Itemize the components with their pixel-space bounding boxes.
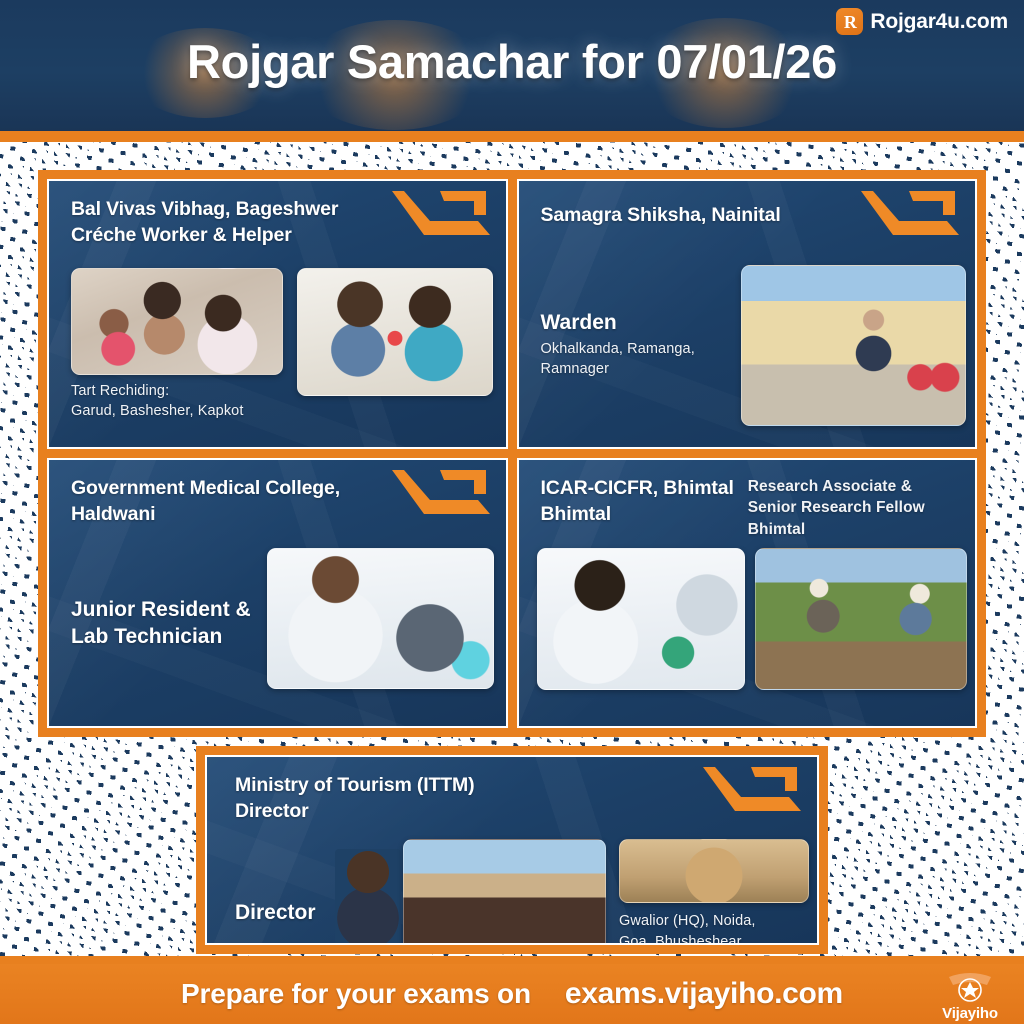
footer-accent-rule [0, 956, 1024, 964]
rojgar-logo-icon: R [836, 8, 863, 35]
card-role-line-2: Senior Research Fellow [748, 497, 957, 518]
footer-cta-banner[interactable]: Prepare for your exams on exams.vijayiho… [0, 964, 1024, 1024]
card-locations-line-1: Okhalkanda, Ramanga, [541, 339, 695, 359]
card-role-line-1: Junior Resident & [71, 596, 251, 623]
conference-hall-photo [403, 839, 606, 945]
card-title-line-2: Bhimtal [541, 502, 734, 528]
chevron-decor-icon [382, 464, 500, 538]
card-note-label: Tart Rechiding: [71, 381, 243, 401]
vijayiho-logo-text: Vijayiho [942, 1005, 998, 1022]
card-title-line-2: Director [235, 799, 674, 825]
palace-monument-photo [619, 839, 809, 903]
card-locations-line-1: Gwalior (HQ), Noida, [619, 911, 756, 932]
vijayiho-logo: Vijayiho [928, 966, 1012, 1022]
chevron-decor-icon [851, 185, 969, 259]
card-title: Samagra Shiksha, Nainital [541, 203, 862, 229]
card-role-line-2: Lab Technician [71, 623, 251, 650]
card-role-line-3: Bhimtal [748, 519, 957, 540]
two-children-playing-photo [297, 268, 493, 396]
card-note-value: Garud, Bashesher, Kapkot [71, 401, 243, 421]
job-cards-grid: Bal Vivas Vibhag, Bageshwer Créche Worke… [38, 170, 986, 737]
page-title: Rojgar Samachar for 07/01/26 [0, 34, 1024, 89]
card-title: Government Medical College, [71, 476, 392, 502]
card-locations: Gwalior (HQ), Noida, Goa, Bhusheshear, N… [619, 911, 756, 945]
lab-researcher-photo [537, 548, 745, 690]
footer-url[interactable]: exams.vijayiho.com [565, 977, 843, 1011]
card-locations-line-2: Goa, Bhusheshear, [619, 932, 756, 945]
job-card-government-medical-college-haldwani[interactable]: Government Medical College, Haldwani Jun… [47, 458, 508, 728]
farmers-in-field-photo [755, 548, 967, 690]
card-title: Ministry of Tourism (ITTM) [235, 773, 674, 799]
chevron-decor-icon [693, 761, 811, 835]
card-title: ICAR-CICFR, Bhimtal [541, 476, 734, 502]
footer-prompt: Prepare for your exams on [181, 978, 531, 1010]
vijayiho-emblem-icon [947, 973, 993, 1007]
school-building-with-staff-photo [741, 265, 966, 426]
job-card-icar-cicfr-bhimtal[interactable]: ICAR-CICFR, Bhimtal Bhimtal Research Ass… [517, 458, 978, 728]
card-title: Bal Vivas Vibhag, Bageshwer [71, 197, 392, 223]
job-card-samagra-shiksha-nainital[interactable]: Samagra Shiksha, Nainital Warden Okhalka… [517, 179, 978, 449]
header-banner: R Rojgar4u.com Rojgar Samachar for 07/01… [0, 0, 1024, 131]
rojgar4u-brand[interactable]: R Rojgar4u.com [836, 8, 1008, 35]
brand-name: Rojgar4u.com [870, 10, 1008, 34]
card-subtitle: Créche Worker & Helper [71, 223, 488, 249]
card-title-line-2: Haldwani [71, 502, 392, 528]
job-card-bal-vikas-vibhag[interactable]: Bal Vivas Vibhag, Bageshwer Créche Worke… [47, 179, 508, 449]
card-role-line-1: Research Associate & [748, 476, 957, 497]
teacher-with-toddlers-photo [71, 268, 283, 375]
content-canvas: Bal Vivas Vibhag, Bageshwer Créche Worke… [0, 142, 1024, 956]
job-card-ministry-of-tourism-ittm[interactable]: Ministry of Tourism (ITTM) Director Dire… [205, 755, 819, 945]
job-card-bottom-wrapper: Ministry of Tourism (ITTM) Director Dire… [196, 746, 828, 954]
card-note: Tart Rechiding: Garud, Bashesher, Kapkot [71, 381, 243, 421]
card-locations-line-2: Ramnager [541, 359, 695, 379]
card-role: Warden [541, 309, 695, 336]
doctor-with-microscope-photo [267, 548, 494, 689]
woman-executive-photo [335, 849, 401, 945]
header-accent-rule [0, 131, 1024, 142]
card-role: Director [235, 899, 316, 926]
